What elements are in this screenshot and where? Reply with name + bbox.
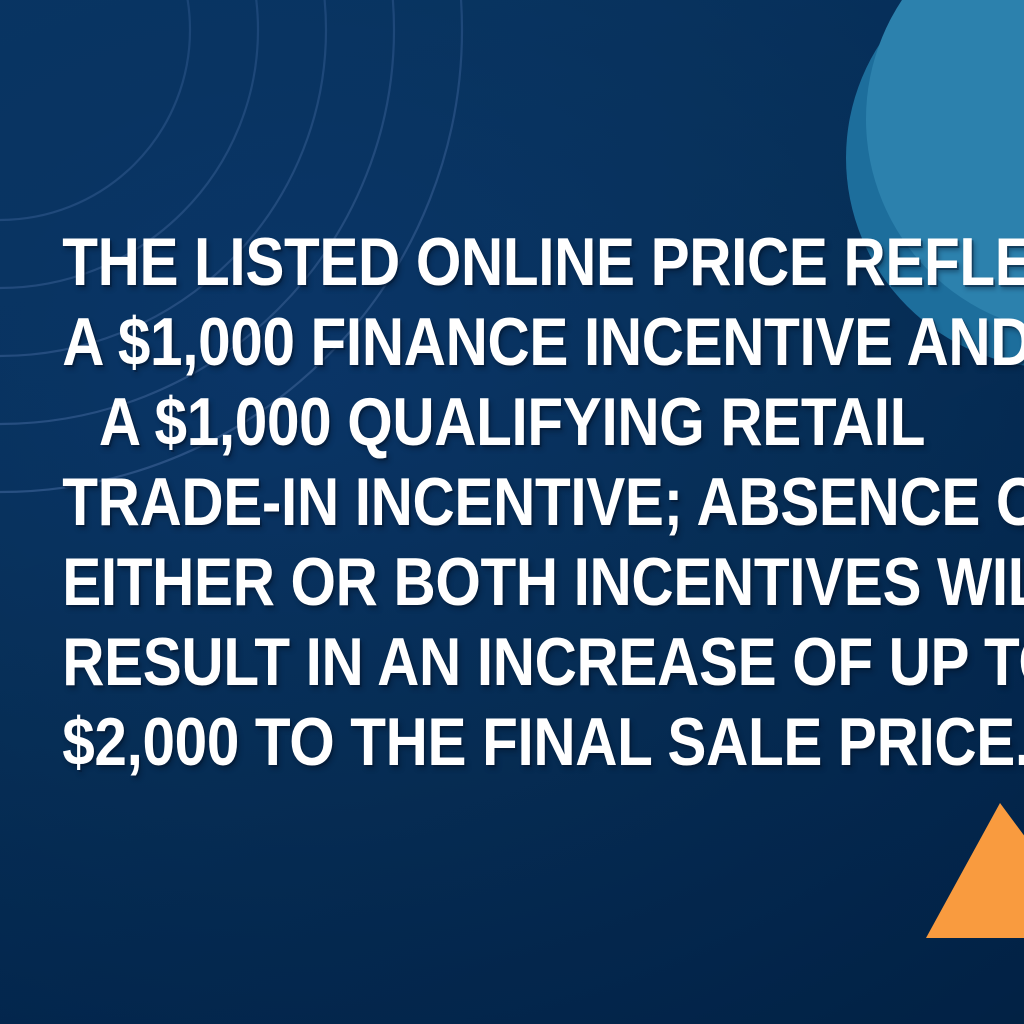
disclaimer-line-6: RESULT IN AN INCREASE OF UP TO	[62, 622, 962, 702]
disclaimer-line-3: A $1,000 QUALIFYING RETAIL	[62, 382, 962, 462]
disclaimer-line-4: TRADE-IN INCENTIVE; ABSENCE OF	[62, 462, 962, 542]
disclaimer-graphic: THE LISTED ONLINE PRICE REFLECTS A $1,00…	[0, 0, 1024, 1024]
disclaimer-line-1: THE LISTED ONLINE PRICE REFLECTS	[62, 222, 962, 302]
disclaimer-line-2: A $1,000 FINANCE INCENTIVE AND	[62, 302, 962, 382]
disclaimer-text-block: THE LISTED ONLINE PRICE REFLECTS A $1,00…	[0, 222, 1024, 782]
disclaimer-line-5: EITHER OR BOTH INCENTIVES WILL	[62, 542, 962, 622]
disclaimer-line-7: $2,000 TO THE FINAL SALE PRICE.	[62, 702, 962, 782]
